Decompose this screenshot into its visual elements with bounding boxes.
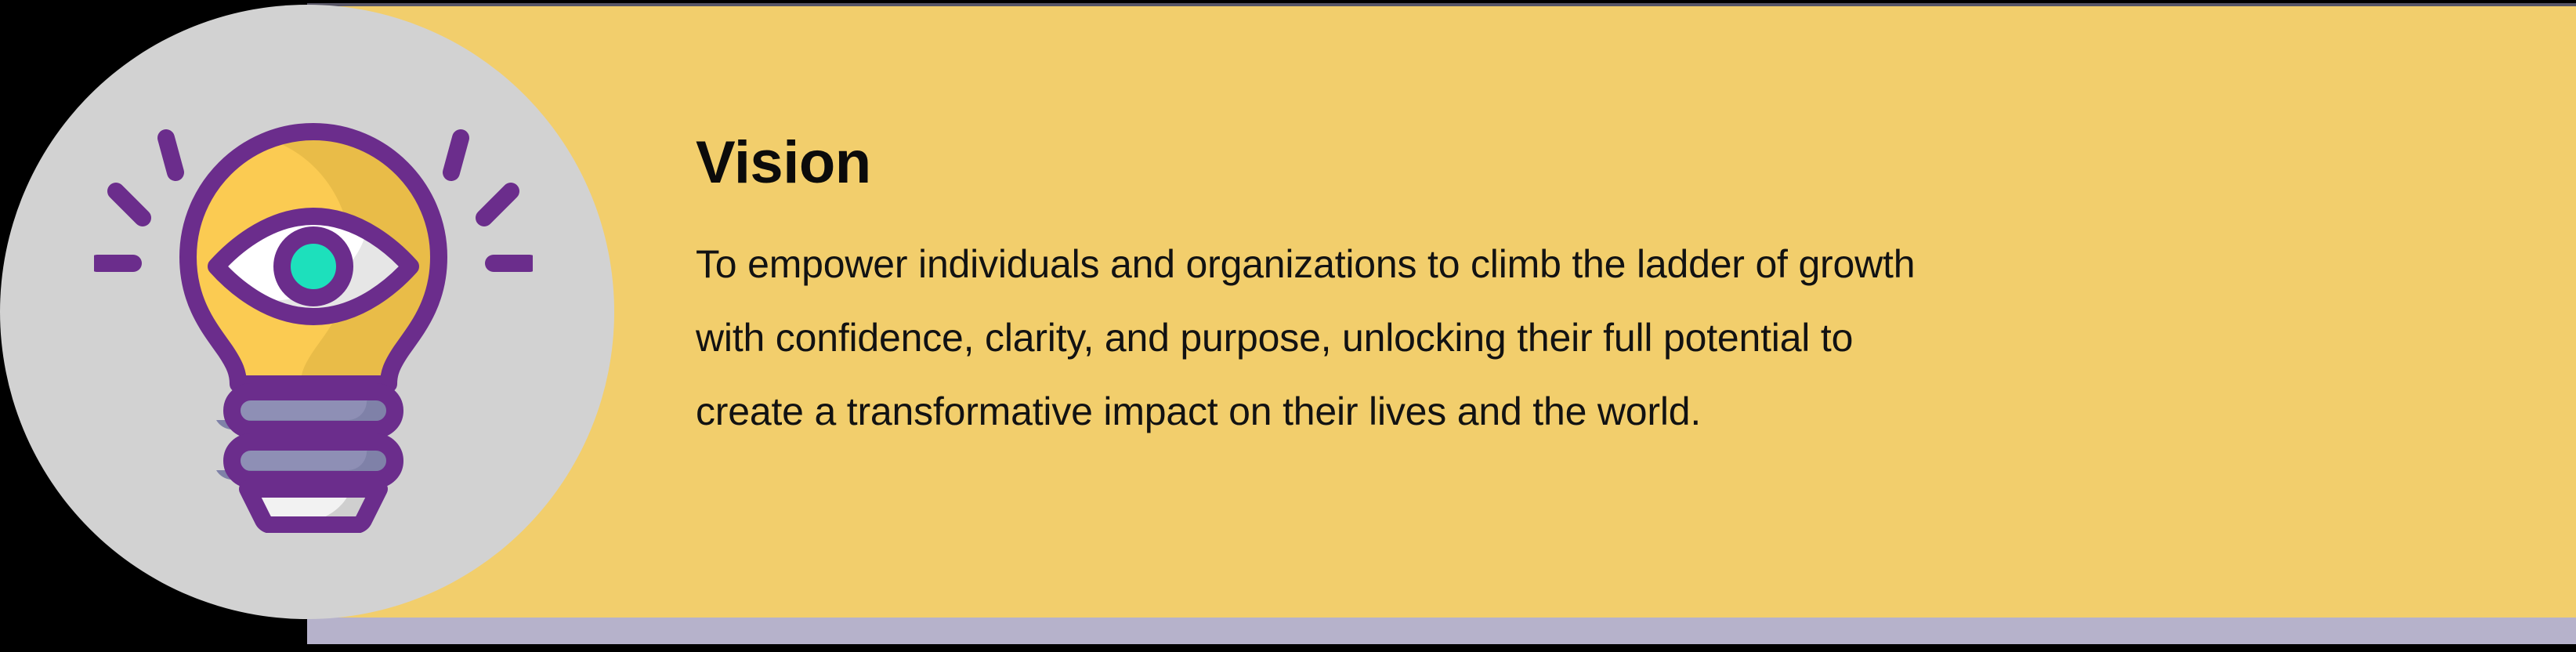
lightbulb-eye-icon bbox=[94, 94, 533, 533]
card-bottom-shadow bbox=[307, 618, 2576, 644]
vision-description-line-1: To empower individuals and organizations… bbox=[696, 227, 2482, 301]
eye-pupil-icon bbox=[282, 235, 345, 298]
vision-card-stage: Vision To empower individuals and organi… bbox=[0, 0, 2576, 652]
bulb-base-icon bbox=[216, 392, 395, 525]
vision-text-column: Vision To empower individuals and organi… bbox=[696, 133, 2482, 448]
vision-description-line-2: with confidence, clarity, and purpose, u… bbox=[696, 301, 2482, 375]
vision-description-line-3: create a transformative impact on their … bbox=[696, 375, 2482, 448]
vision-description: To empower individuals and organizations… bbox=[696, 227, 2482, 448]
eye-icon bbox=[216, 216, 411, 317]
page-title: Vision bbox=[696, 133, 2482, 193]
